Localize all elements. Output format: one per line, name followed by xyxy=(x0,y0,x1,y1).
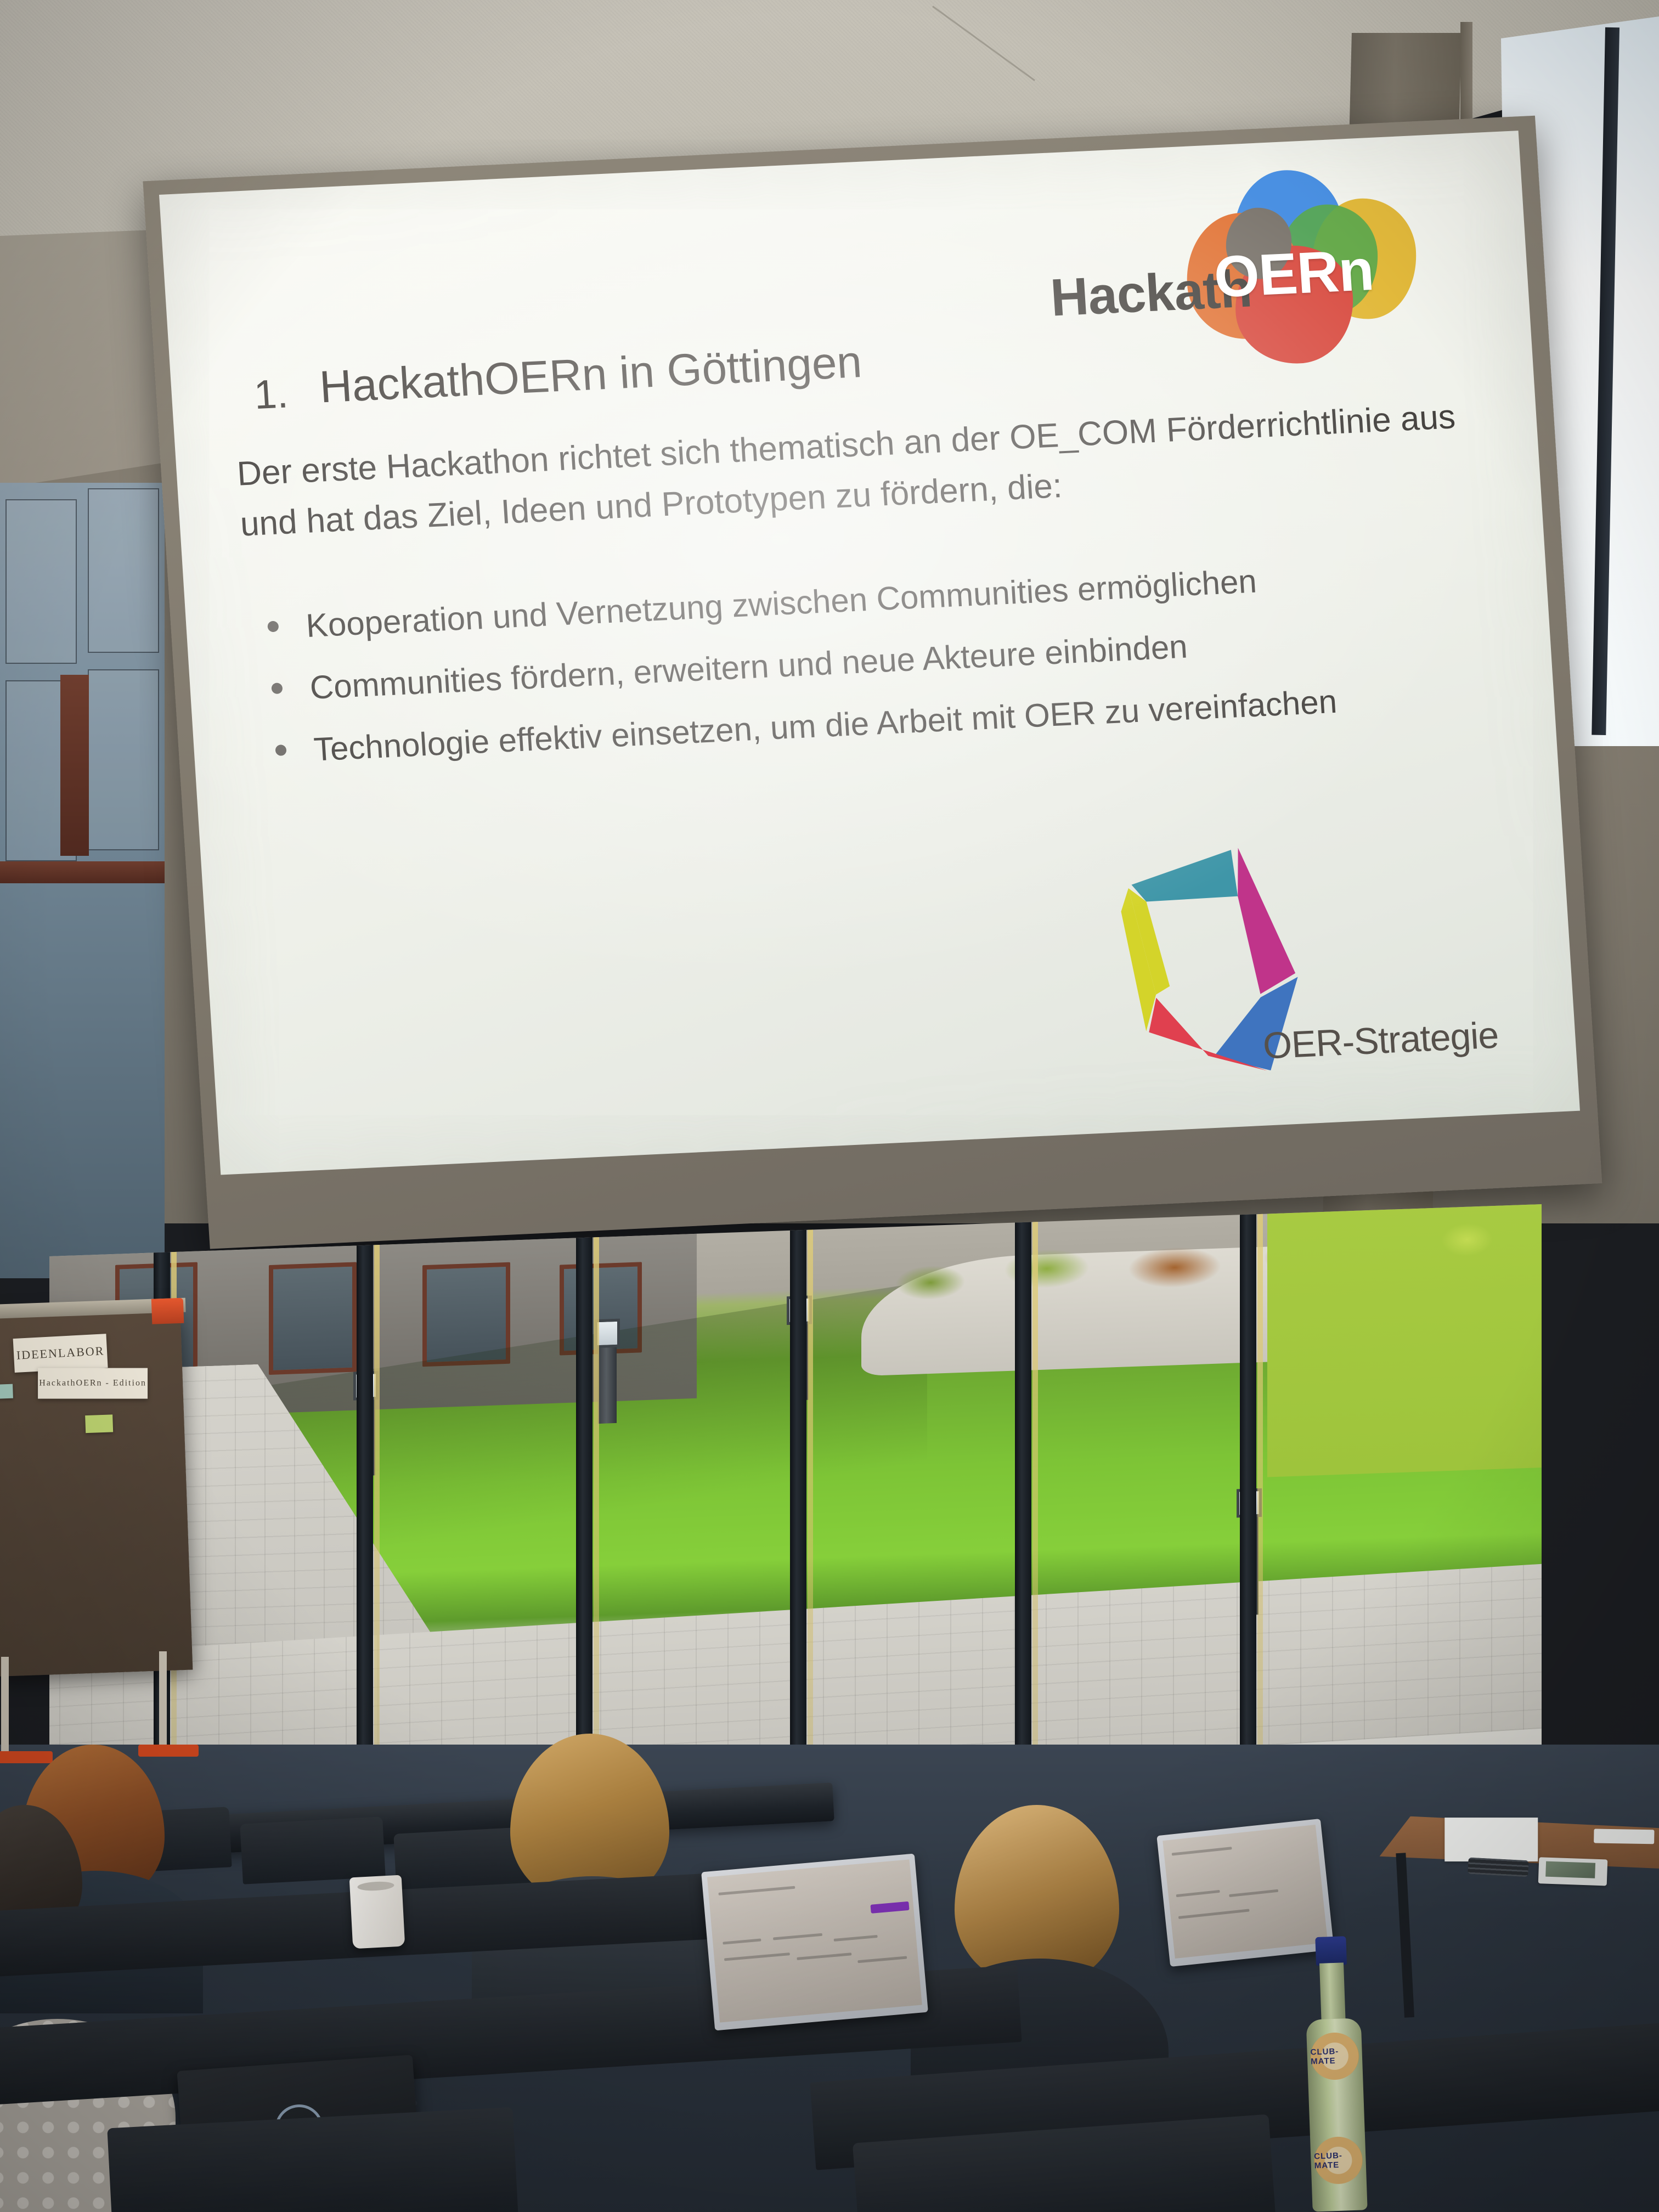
pinboard-foot xyxy=(138,1745,199,1757)
desk-white-strip xyxy=(1594,1829,1654,1844)
hackathoern-logo: Hackath OERn xyxy=(1043,155,1471,361)
pinboard-sign-ideenlabor: IDEENLABOR xyxy=(13,1334,108,1373)
coffee-mug[interactable] xyxy=(349,1875,405,1949)
screen-text-line xyxy=(1172,1847,1232,1855)
window-mullion-highlight xyxy=(1257,1204,1263,1838)
pinboard-leg xyxy=(159,1651,167,1750)
bollard-light xyxy=(598,1319,617,1424)
window-pane xyxy=(88,488,159,653)
sticky-note-teal xyxy=(0,1384,13,1400)
screen-text-line xyxy=(723,1939,761,1945)
pinboard-leg xyxy=(1,1657,9,1761)
window-mullion xyxy=(790,1204,806,1838)
window-mullion-highlight xyxy=(808,1204,813,1838)
screen-text-line xyxy=(724,1953,790,1961)
laptop-center[interactable] xyxy=(701,1854,928,2031)
slide-bullet-list: Kooperation und Vernetzung zwischen Comm… xyxy=(262,549,1513,792)
window-wood-trim xyxy=(60,675,89,856)
bottle-cap xyxy=(1315,1936,1347,1966)
slide-body-text: Der erste Hackathon richtet sich themati… xyxy=(235,390,1491,550)
lectern-desk xyxy=(1378,1803,1659,2016)
window-wood-trim xyxy=(0,861,165,883)
logo-word-oern: OERn xyxy=(1212,237,1375,311)
facade-window xyxy=(269,1262,357,1375)
screen-text-line xyxy=(1176,1890,1220,1897)
window-mullion xyxy=(1015,1204,1031,1838)
bottle-neck xyxy=(1319,1962,1346,2023)
projector-remote[interactable] xyxy=(1468,1858,1528,1877)
pentagon-triangle-teal xyxy=(1130,850,1238,902)
screen-text-line xyxy=(718,1886,795,1895)
pinboard-foot xyxy=(0,1751,53,1763)
tree-foliage xyxy=(1267,1204,1542,1477)
window-mullion-highlight xyxy=(1032,1204,1038,1838)
paper-sheet xyxy=(1444,1818,1538,1861)
glass-wall-outdoor-view xyxy=(49,1204,1542,1838)
presentation-slide: Hackath OERn 1. HackathOERn in Göttingen… xyxy=(159,131,1580,1175)
screen-text-line xyxy=(1178,1909,1250,1919)
slide-title: HackathOERn in Göttingen xyxy=(318,336,864,413)
lecture-hall-photo: Hackath OERn 1. HackathOERn in Göttingen… xyxy=(0,0,1659,2212)
window-pane xyxy=(88,669,159,850)
sticky-note-green xyxy=(85,1414,113,1433)
slide-number: 1. xyxy=(253,370,290,418)
pinboard-corner-bracket xyxy=(151,1298,184,1324)
club-mate-bottle[interactable]: CLUB-MATE CLUB-MATE xyxy=(1301,1936,1369,2211)
screen-text-line xyxy=(857,1956,907,1963)
screen-accent-button xyxy=(870,1901,909,1914)
window-mullion xyxy=(1240,1204,1256,1838)
pinboard-sign-hackathoern-edition: HackathOERn - Edition xyxy=(38,1368,148,1399)
window-left-upper xyxy=(0,483,165,1278)
screen-text-line xyxy=(797,1953,851,1960)
projection-screen: Hackath OERn 1. HackathOERn in Göttingen… xyxy=(159,131,1580,1175)
seat-backrest xyxy=(240,1816,385,1884)
pinboard: IDEENLABOR HackathOERn - Edition xyxy=(0,1308,193,1677)
screen-text-line xyxy=(773,1933,822,1940)
av-control-touchpanel[interactable] xyxy=(1538,1857,1608,1886)
window-mullion xyxy=(357,1212,373,1838)
oer-strategie-logo: OER-Strategie xyxy=(1112,824,1500,1093)
lectern-leg xyxy=(1396,1853,1414,2018)
window-mullion-highlight xyxy=(374,1212,380,1838)
pentagon-triangle-magenta xyxy=(1235,845,1297,995)
window-pane xyxy=(5,499,77,664)
projection-screen-assembly: Hackath OERn 1. HackathOERn in Göttingen… xyxy=(159,131,1583,1229)
screen-text-line xyxy=(834,1935,878,1942)
screen-text-line xyxy=(1229,1889,1278,1897)
laptop-screen-center xyxy=(707,1859,922,2022)
